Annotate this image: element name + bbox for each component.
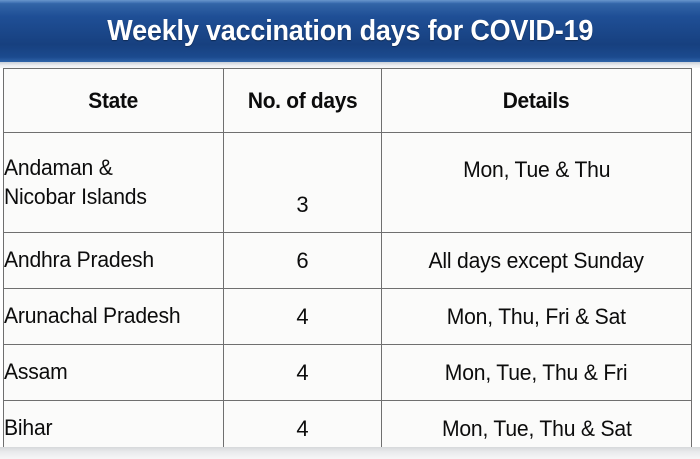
details-label: Mon, Tue, Thu & Sat: [442, 416, 632, 442]
cell-days: 4: [224, 345, 382, 401]
table-row: Arunachal Pradesh 4 Mon, Thu, Fri & Sat: [4, 289, 692, 345]
title-banner: Weekly vaccination days for COVID-19: [0, 0, 700, 62]
column-header-details: Details: [382, 69, 692, 133]
cell-state: Arunachal Pradesh: [4, 289, 224, 345]
cell-days: 6: [224, 233, 382, 289]
column-header-state-label: State: [89, 88, 139, 114]
cell-days: 4: [224, 289, 382, 345]
state-name-line-1: Andaman &: [4, 154, 113, 182]
state-name: Andhra Pradesh: [4, 246, 154, 274]
page-title: Weekly vaccination days for COVID-19: [107, 15, 593, 48]
cell-state: Andaman & Nicobar Islands: [4, 133, 224, 233]
column-header-days: No. of days: [224, 69, 382, 133]
vaccination-table: State No. of days Details Andaman & Nico…: [3, 68, 692, 457]
details-label: Mon, Thu, Fri & Sat: [447, 304, 626, 330]
details-label: Mon, Tue & Thu: [463, 157, 610, 183]
state-name: Arunachal Pradesh: [4, 302, 180, 330]
cell-state: Andhra Pradesh: [4, 233, 224, 289]
table-row: Andaman & Nicobar Islands 3 Mon, Tue & T…: [4, 133, 692, 233]
table-header-row: State No. of days Details: [4, 69, 692, 133]
details-label: Mon, Tue, Thu & Fri: [445, 360, 628, 386]
cell-details: Mon, Tue, Thu & Fri: [382, 345, 692, 401]
state-name: Bihar: [4, 414, 52, 442]
cell-days: 3: [224, 133, 382, 233]
cell-details: Mon, Thu, Fri & Sat: [382, 289, 692, 345]
column-header-state: State: [4, 69, 224, 133]
vaccination-days-infographic: Weekly vaccination days for COVID-19 Sta…: [0, 0, 700, 459]
cell-state: Assam: [4, 345, 224, 401]
vaccination-table-container: State No. of days Details Andaman & Nico…: [3, 68, 691, 447]
state-name: Assam: [4, 358, 68, 386]
table-row: Andhra Pradesh 6 All days except Sunday: [4, 233, 692, 289]
column-header-days-label: No. of days: [248, 88, 358, 114]
cell-details: Mon, Tue & Thu: [382, 133, 692, 233]
bottom-strip: [0, 447, 700, 459]
state-name-line-2: Nicobar Islands: [4, 183, 147, 211]
details-label: All days except Sunday: [429, 248, 644, 274]
table-row: Assam 4 Mon, Tue, Thu & Fri: [4, 345, 692, 401]
column-header-details-label: Details: [503, 88, 570, 114]
cell-details: All days except Sunday: [382, 233, 692, 289]
